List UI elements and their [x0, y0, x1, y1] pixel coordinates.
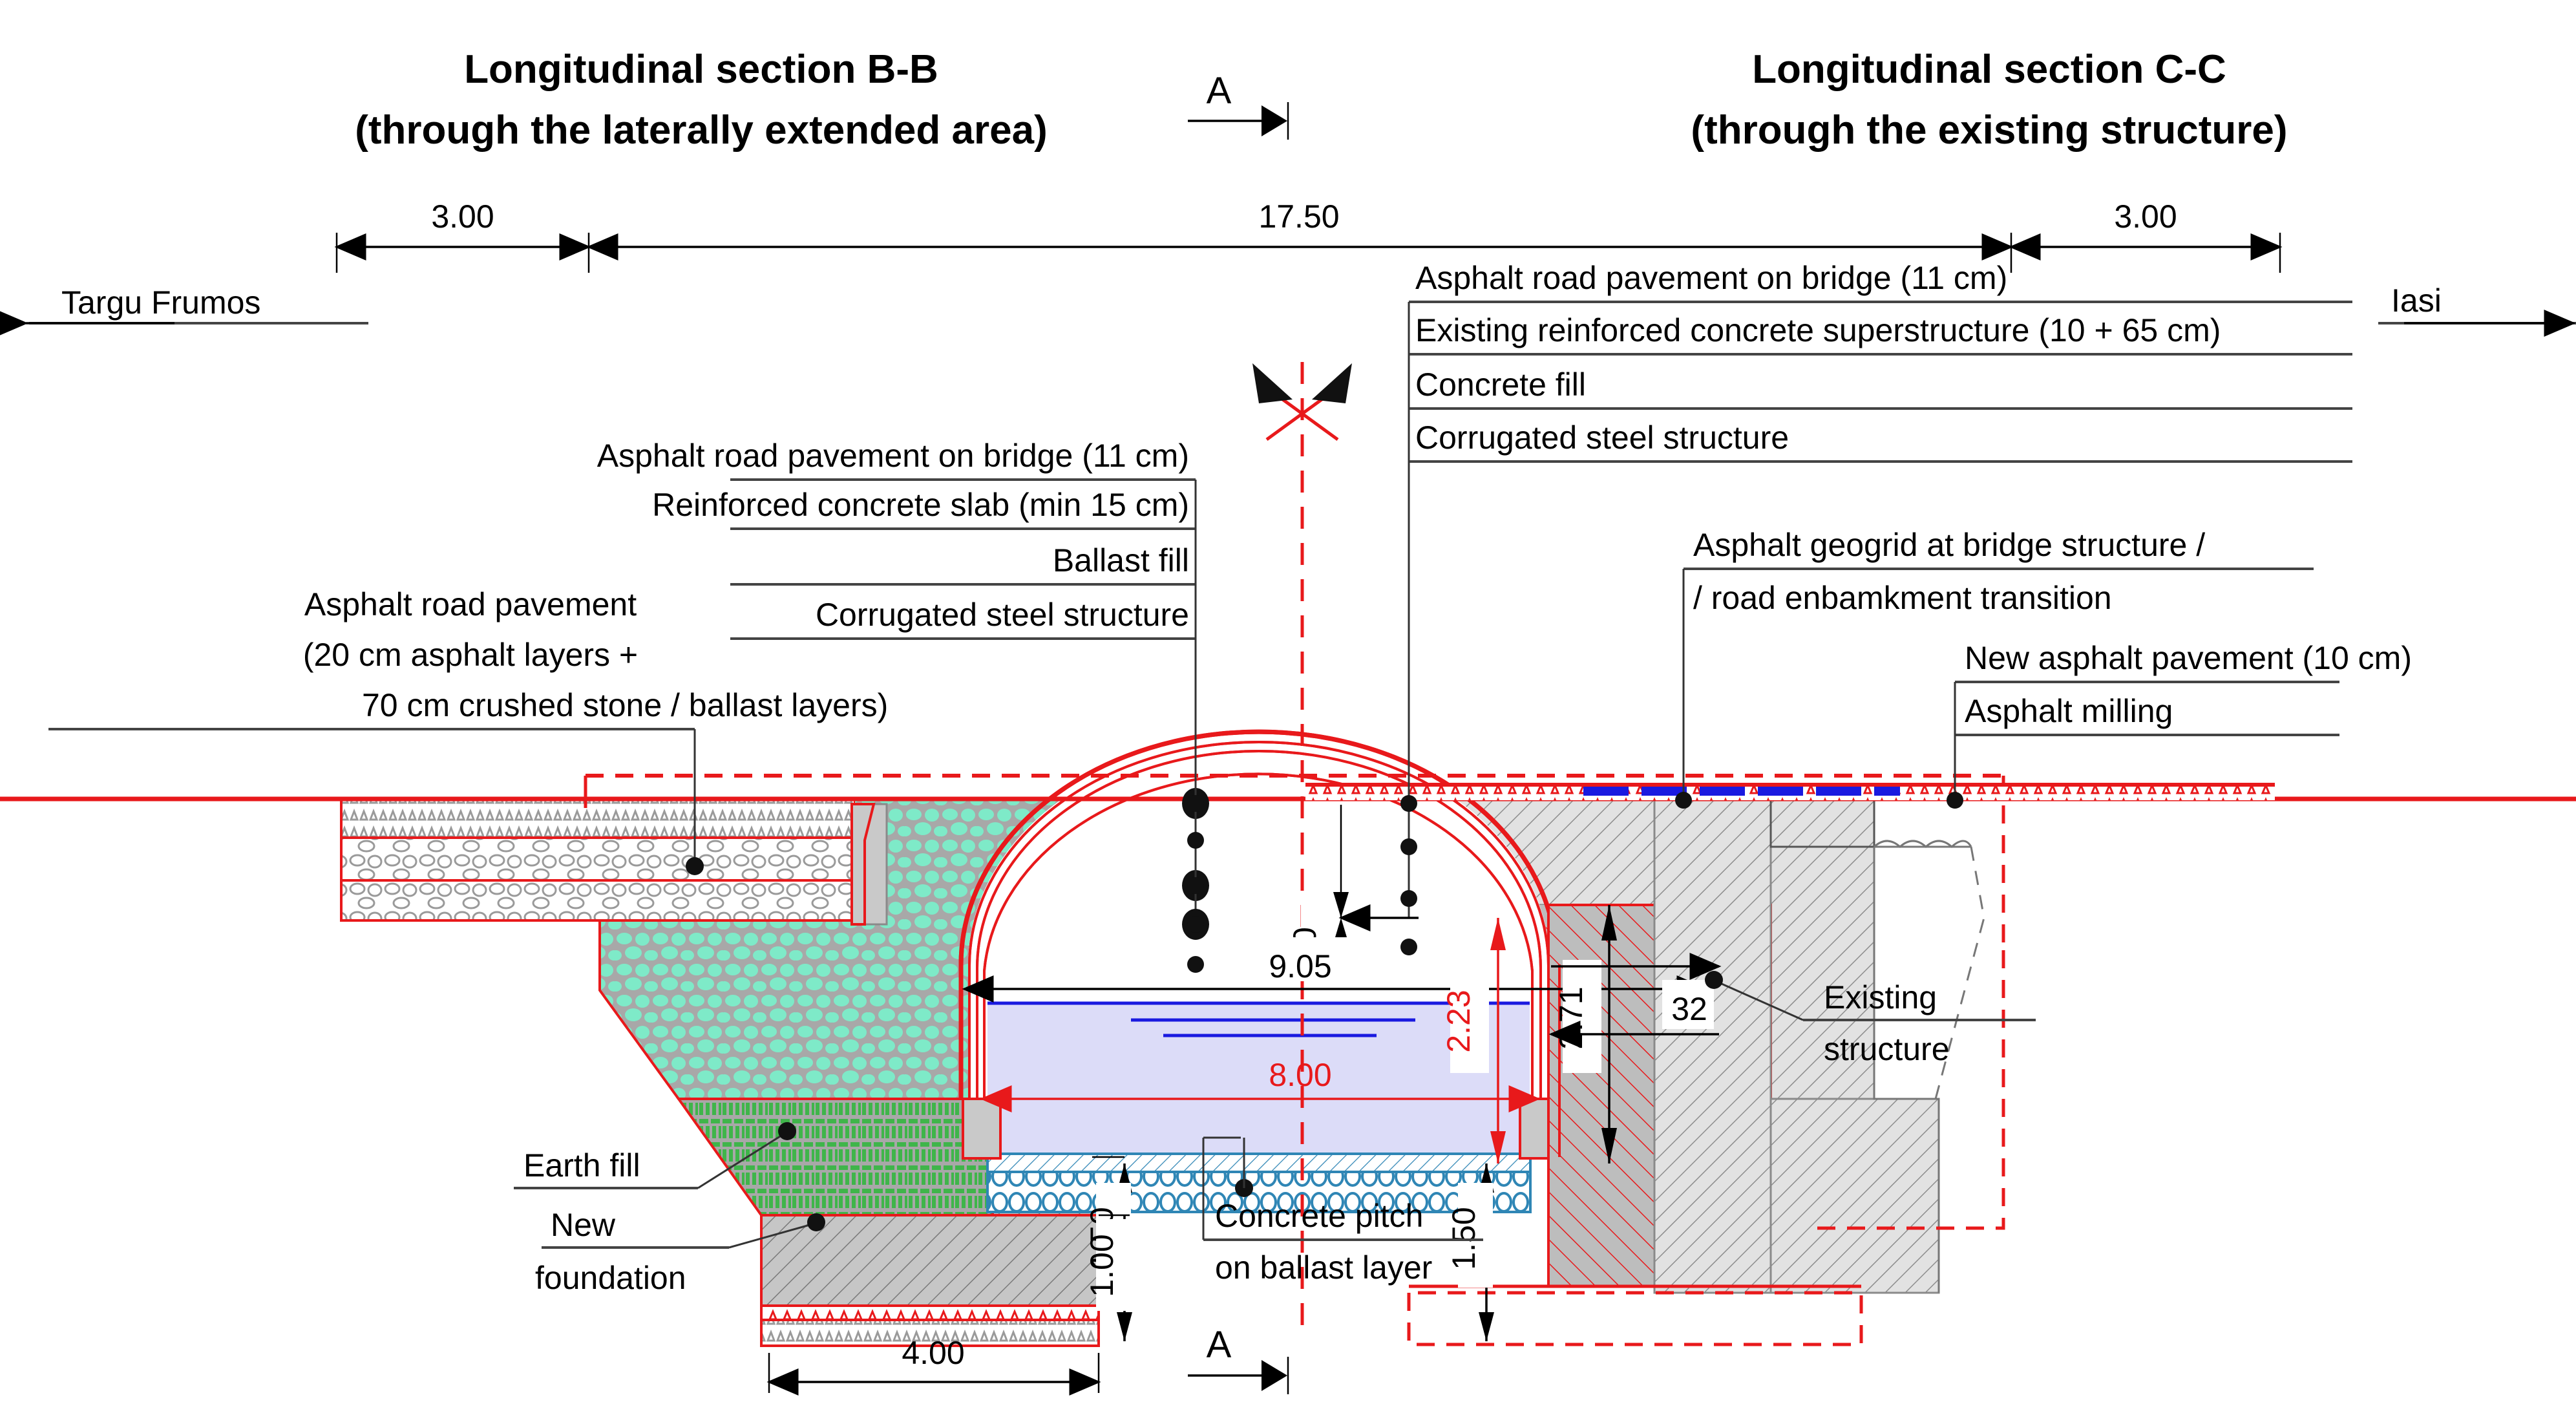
section-marker-a-bottom: A: [1188, 1324, 1288, 1394]
dimension-17-50: 17.50: [1258, 198, 1339, 235]
dimension-foundation-width-value: 4.00: [902, 1335, 964, 1371]
left-pavement-note-0: Asphalt road pavement: [304, 586, 637, 622]
direction-targu-frumos: Targu Frumos: [26, 284, 368, 323]
right-annotation3-0: New asphalt pavement (10 cm): [1965, 640, 2412, 676]
section-label-a-bottom: A: [1207, 1324, 1232, 1366]
direction-label-right: Iasi: [2391, 282, 2442, 319]
dimension-foundation-depth-value: 1.00: [1084, 1234, 1120, 1297]
dimension-3-00-right: 3.00: [2114, 198, 2177, 235]
right-annotation-0: Asphalt road pavement on bridge (11 cm): [1415, 260, 2007, 296]
label-earth-fill-text: Earth fill: [523, 1147, 640, 1184]
parapet-block: [852, 804, 887, 924]
dimension-rise-red-value: 2.23: [1441, 990, 1477, 1052]
section-marker-a-top: A: [1188, 70, 1288, 140]
dimension-span-value: 9.05: [1269, 948, 1331, 984]
section-label-a-top: A: [1207, 70, 1232, 112]
drawing-canvas: Longitudinal section B-B (through the la…: [0, 0, 2576, 1413]
title-left-line2: (through the laterally extended area): [355, 108, 1047, 153]
right-annotation-1: Existing reinforced concrete superstruct…: [1415, 312, 2221, 348]
right-annotation2-1: / road enbamkment transition: [1693, 580, 2112, 616]
left-approach-pavement: [341, 799, 855, 920]
title-right-line2: (through the existing structure): [1691, 108, 2287, 153]
label-concrete-pitch-l2: on ballast layer: [1215, 1249, 1432, 1286]
label-existing-structure-l1: Existing: [1824, 979, 1937, 1015]
left-annotation-3: Corrugated steel structure: [816, 597, 1189, 633]
label-existing-structure-l2: structure: [1824, 1031, 1950, 1067]
left-annotation-0: Asphalt road pavement on bridge (11 cm): [597, 438, 1189, 474]
left-annotation-2: Ballast fill: [1053, 542, 1189, 579]
engineering-drawing-svg: Longitudinal section B-B (through the la…: [0, 0, 2576, 1413]
right-annotation-3: Corrugated steel structure: [1415, 420, 1789, 456]
right-annotation2-0: Asphalt geogrid at bridge structure /: [1693, 527, 2205, 563]
dimension-3-00-left: 3.00: [431, 198, 494, 235]
dimension-rise-black-value: 2.71: [1553, 986, 1589, 1049]
title-right-line1: Longitudinal section C-C: [1752, 47, 2226, 92]
direction-label-left: Targu Frumos: [61, 284, 260, 321]
right-annotation-2: Concrete fill: [1415, 367, 1586, 403]
dimension-wall-thickness-value: 32: [1671, 991, 1707, 1027]
right-annotation3-1: Asphalt milling: [1965, 693, 2173, 729]
title-left-line1: Longitudinal section B-B: [464, 47, 938, 92]
dimension-water-width-value: 8.00: [1269, 1057, 1331, 1093]
label-new-foundation-l1: New: [551, 1207, 616, 1243]
earth-fill-body: [679, 1099, 993, 1215]
direction-iasi: Iasi: [2378, 282, 2576, 323]
label-new-foundation-l2: foundation: [535, 1260, 686, 1296]
label-concrete-pitch-l1: Concrete pitch: [1215, 1198, 1423, 1234]
left-pavement-note-2: 70 cm crushed stone / ballast layers): [362, 687, 888, 723]
left-annotation-1: Reinforced concrete slab (min 15 cm): [652, 487, 1189, 523]
left-pavement-note-1: (20 cm asphalt layers +: [303, 637, 638, 673]
